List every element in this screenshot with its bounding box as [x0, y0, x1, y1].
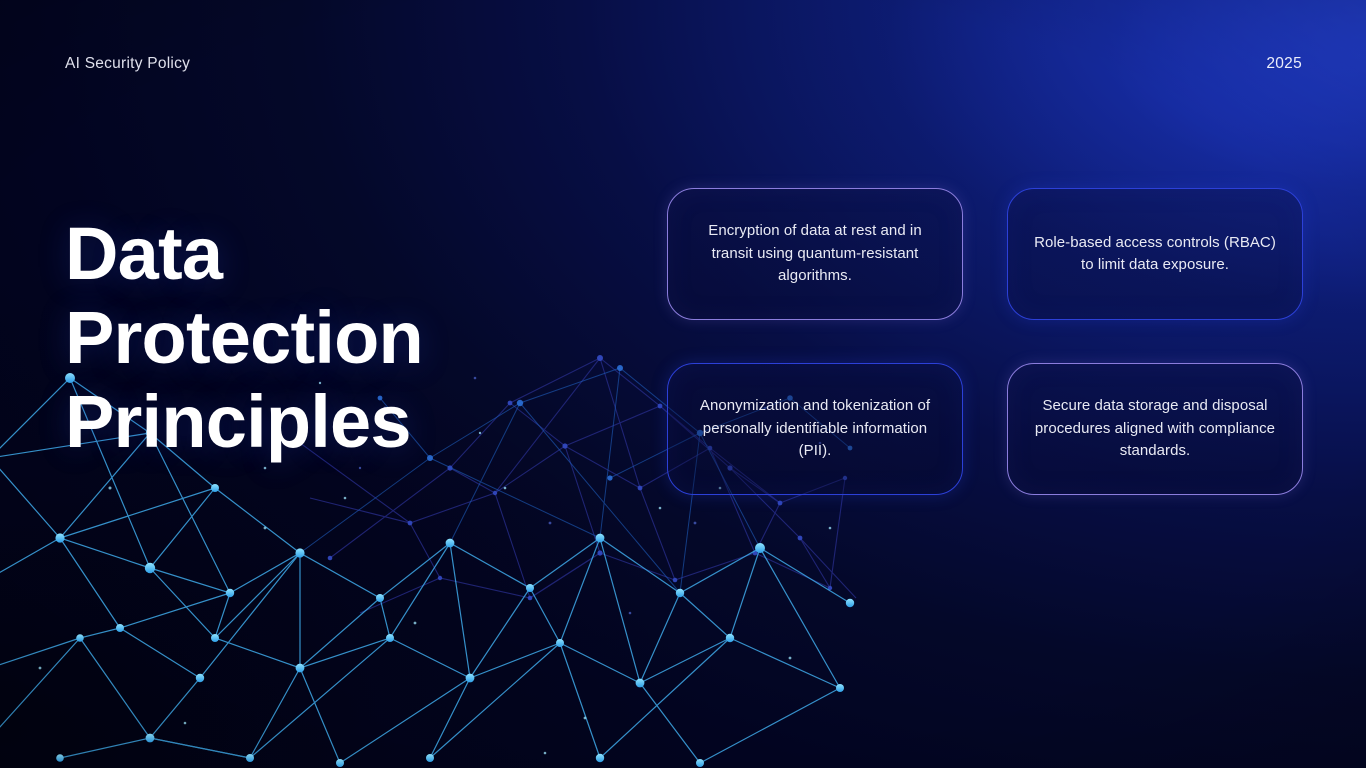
principles-card-grid: Encryption of data at rest and in transi…: [667, 188, 1304, 495]
principle-card-rbac[interactable]: Role-based access controls (RBAC) to lim…: [1007, 188, 1303, 320]
principle-card-text: Anonymization and tokenization of person…: [690, 395, 940, 463]
slide-header: AI Security Policy 2025: [0, 0, 1366, 128]
page-title-line-3: Principles: [65, 380, 625, 464]
principle-card-encryption[interactable]: Encryption of data at rest and in transi…: [667, 188, 963, 320]
page-title-line-1: Data: [65, 212, 625, 296]
principle-card-anonymization[interactable]: Anonymization and tokenization of person…: [667, 363, 963, 495]
principle-card-text: Role-based access controls (RBAC) to lim…: [1030, 232, 1280, 277]
principle-card-text: Encryption of data at rest and in transi…: [690, 220, 940, 288]
principle-card-secure-storage[interactable]: Secure data storage and disposal procedu…: [1007, 363, 1303, 495]
principle-card-text: Secure data storage and disposal procedu…: [1030, 395, 1280, 463]
page-title-line-2: Protection: [65, 296, 625, 380]
slide-root: AI Security Policy 2025 Data Protection …: [0, 0, 1366, 768]
header-year: 2025: [1266, 55, 1302, 73]
header-eyebrow: AI Security Policy: [65, 55, 190, 73]
page-title: Data Protection Principles: [65, 212, 625, 464]
